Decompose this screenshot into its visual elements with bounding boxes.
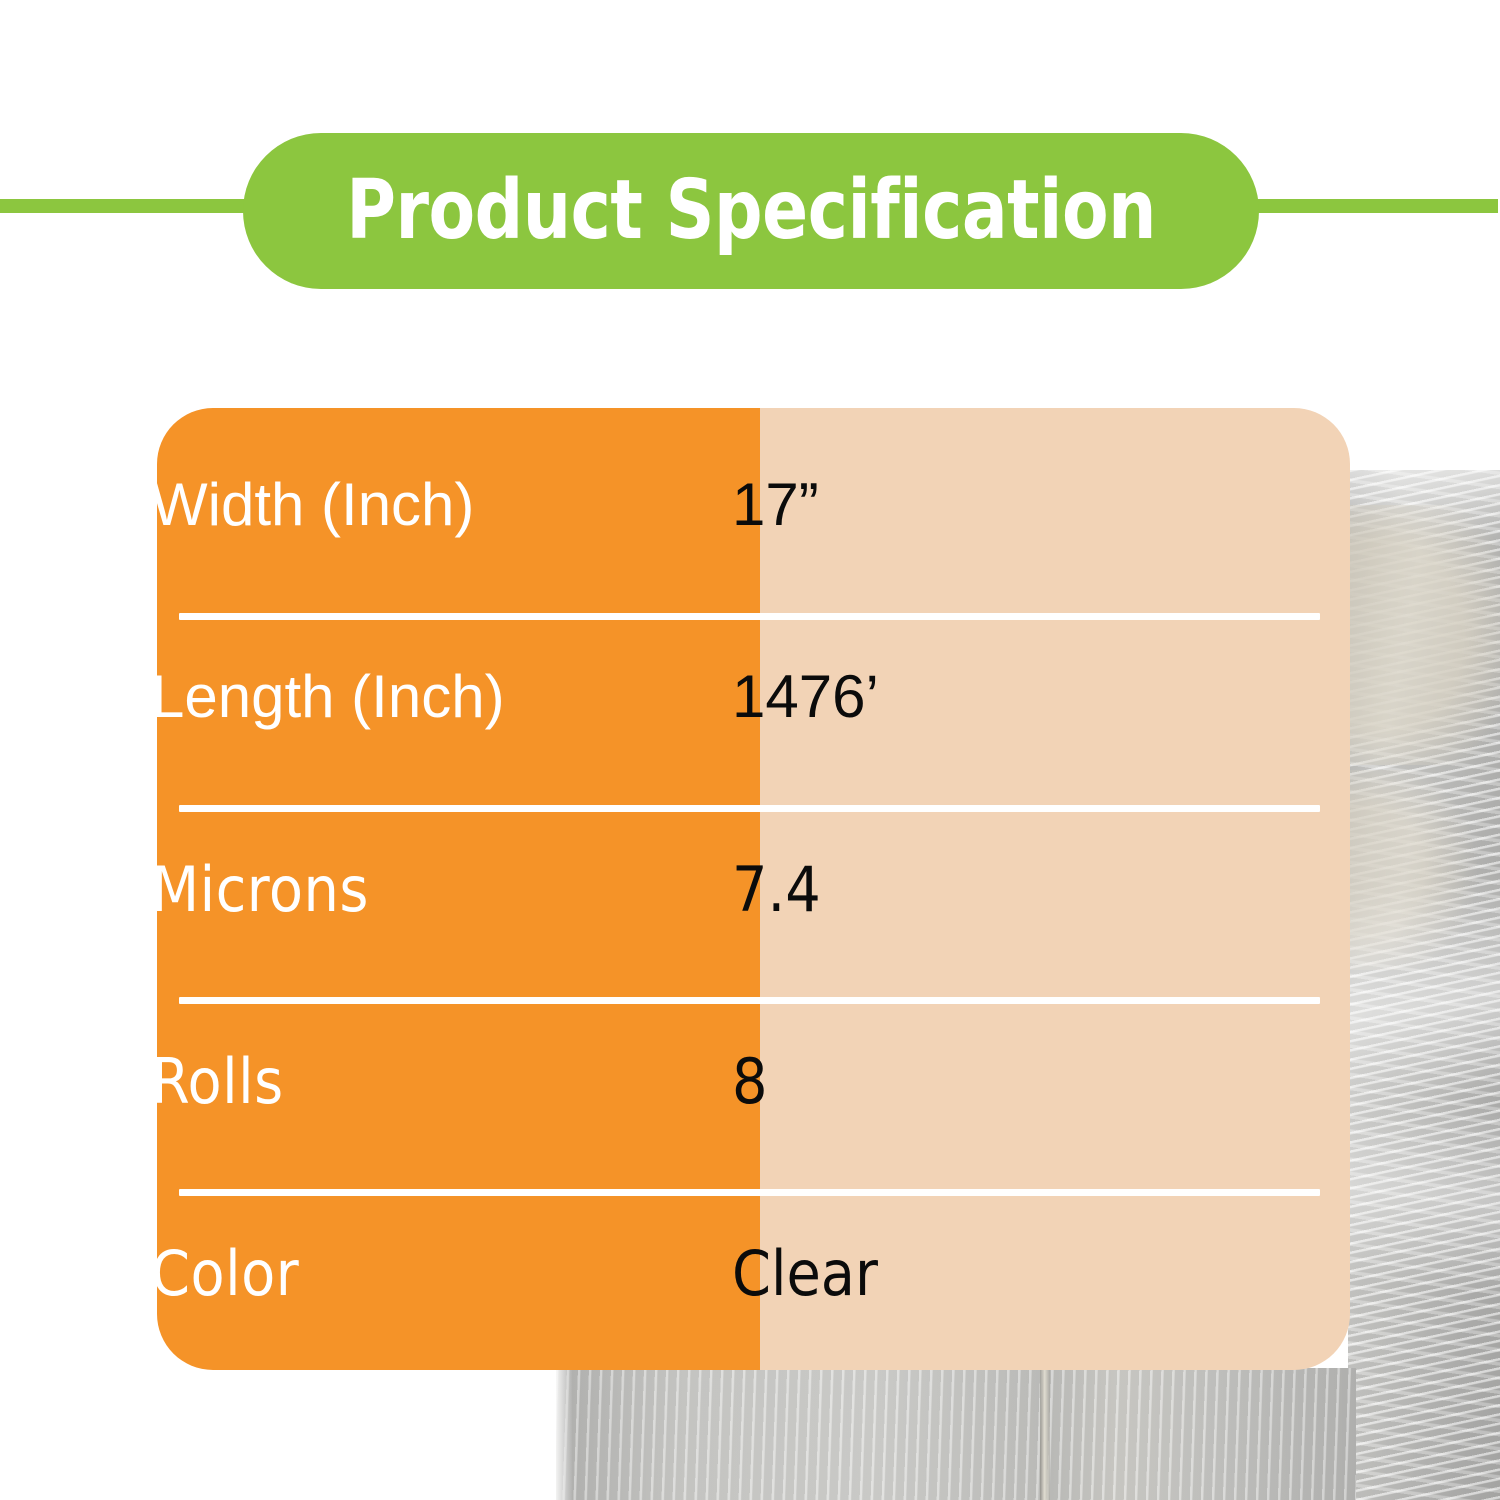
- header-rule-right: [1232, 199, 1498, 213]
- page-title: Product Specification: [346, 170, 1156, 252]
- spec-label-rolls: Rolls: [157, 1045, 284, 1118]
- table-row: Width (Inch): [157, 408, 760, 600]
- spec-value-length: 1476’: [732, 662, 879, 731]
- spec-label-color: Color: [157, 1237, 299, 1310]
- infographic-canvas: Product Specification Width (Inch) Lengt…: [0, 0, 1500, 1500]
- table-row: Color: [157, 1178, 760, 1370]
- table-row: 17”: [760, 408, 1350, 600]
- spec-value-width: 17”: [732, 470, 819, 539]
- table-row: Rolls: [157, 985, 760, 1177]
- table-row: Length (Inch): [157, 600, 760, 792]
- spec-value-column: 17” 1476’ 7.4 8 Clear: [760, 408, 1350, 1370]
- table-row: Microns: [157, 793, 760, 985]
- spec-label-column: Width (Inch) Length (Inch) Microns Rolls…: [157, 408, 760, 1370]
- page-title-banner: Product Specification: [243, 133, 1259, 289]
- spec-value-rolls: 8: [732, 1045, 767, 1118]
- table-row: 1476’: [760, 600, 1350, 792]
- roll-left-edge-highlight: [556, 1368, 572, 1500]
- roll-sheen-overlay: [1348, 470, 1500, 1500]
- table-row: 8: [760, 985, 1350, 1177]
- spec-label-length: Length (Inch): [157, 662, 505, 731]
- stretch-film-rolls-bottom-image: [556, 1368, 1356, 1500]
- table-row: 7.4: [760, 793, 1350, 985]
- header-rule-left: [0, 199, 270, 213]
- spec-value-color: Clear: [732, 1237, 878, 1310]
- product-specification-table: Width (Inch) Length (Inch) Microns Rolls…: [157, 408, 1350, 1370]
- spec-label-microns: Microns: [157, 853, 369, 926]
- roll-seam-line: [1040, 1368, 1050, 1500]
- table-row: Clear: [760, 1178, 1350, 1370]
- spec-value-microns: 7.4: [732, 853, 821, 926]
- spec-label-width: Width (Inch): [157, 470, 474, 539]
